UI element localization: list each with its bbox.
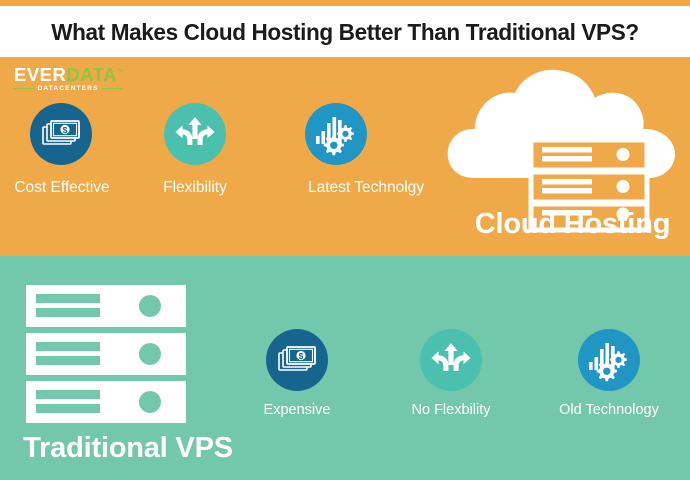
label-old-technology: Old Technology bbox=[534, 402, 684, 418]
bar-chart-gears-icon bbox=[314, 114, 358, 154]
three-way-arrows-icon bbox=[175, 115, 215, 153]
top-accent-bar bbox=[0, 0, 690, 6]
cloud-hosting-heading: Cloud Hosting bbox=[455, 208, 690, 241]
badge-latest-technology[interactable] bbox=[305, 103, 367, 165]
infographic-poster: What Makes Cloud Hosting Better Than Tra… bbox=[0, 0, 690, 480]
logo-rule-right-icon bbox=[102, 88, 122, 90]
badge-no-flexibility[interactable] bbox=[420, 329, 482, 391]
money-bills-icon: $ bbox=[278, 345, 316, 375]
label-flexibility: Flexibility bbox=[135, 179, 255, 197]
money-bills-icon: $ bbox=[42, 119, 80, 149]
logo-word-first: EVER bbox=[14, 64, 66, 85]
logo-subtitle: DATACENTERS bbox=[38, 85, 99, 92]
everdata-logo[interactable]: EVERDATA™ DATACENTERS bbox=[14, 63, 122, 93]
page-title: What Makes Cloud Hosting Better Than Tra… bbox=[14, 10, 676, 54]
logo-rule-left-icon bbox=[14, 88, 34, 90]
svg-text:$: $ bbox=[299, 351, 304, 361]
badge-cost-effective[interactable]: $ bbox=[30, 103, 92, 165]
label-expensive: Expensive bbox=[237, 402, 357, 418]
bar-chart-gears-icon bbox=[587, 340, 631, 380]
badge-old-technology[interactable] bbox=[578, 329, 640, 391]
label-cost-effective: Cost Effective bbox=[0, 179, 124, 197]
server-rack-stack-icon bbox=[22, 283, 212, 423]
badge-flexibility[interactable] bbox=[164, 103, 226, 165]
svg-text:$: $ bbox=[63, 125, 68, 135]
logo-word-second: DATA bbox=[66, 64, 117, 85]
logo-subtitle-row: DATACENTERS bbox=[14, 85, 122, 92]
three-way-arrows-icon bbox=[431, 341, 471, 379]
badge-expensive[interactable]: $ bbox=[266, 329, 328, 391]
label-no-flexibility: No Flexbility bbox=[391, 402, 511, 418]
logo-wordmark: EVERDATA™ bbox=[14, 63, 122, 84]
cloud-server-icon bbox=[443, 62, 690, 207]
logo-trademark-icon: ™ bbox=[117, 69, 125, 76]
traditional-vps-heading: Traditional VPS bbox=[8, 432, 248, 465]
